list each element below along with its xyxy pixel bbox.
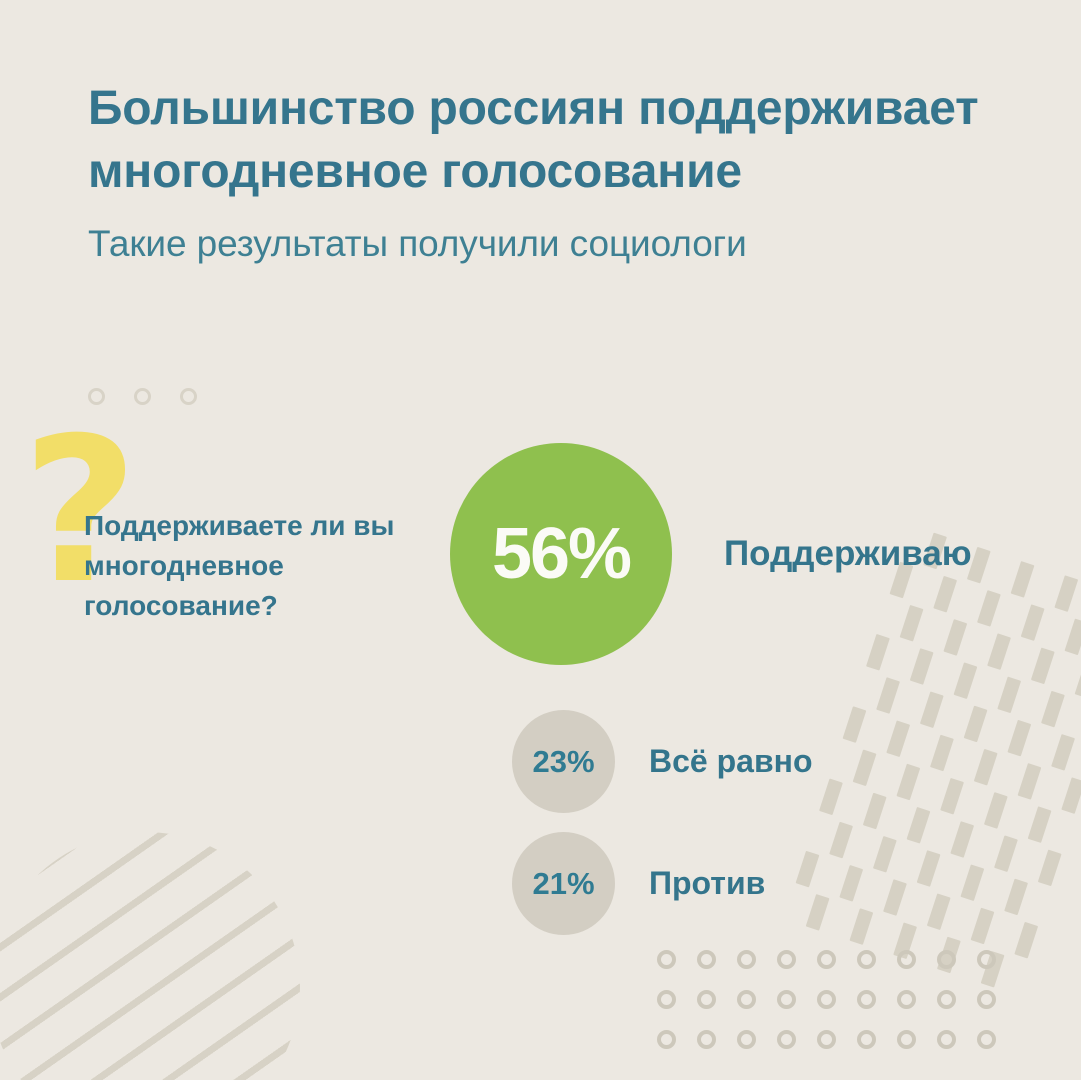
result-label-against: Против <box>649 865 765 902</box>
percentage-value-neutral: 23% <box>532 746 594 777</box>
result-row-support: 56% Поддерживаю <box>450 443 972 665</box>
infographic-poster: Большинство россиян поддерживает многодн… <box>0 0 1081 1080</box>
percentage-value-against: 21% <box>532 868 594 899</box>
result-label-support: Поддерживаю <box>724 534 972 574</box>
percentage-bubble-neutral: 23% <box>512 710 615 813</box>
percentage-bubble-support: 56% <box>450 443 672 665</box>
percentage-value-support: 56% <box>492 518 630 590</box>
percentage-bubble-against: 21% <box>512 832 615 935</box>
result-row-against: 21% Против <box>512 832 765 935</box>
result-row-neutral: 23% Всё равно <box>512 710 812 813</box>
results-chart: 56% Поддерживаю 23% Всё равно 21% Против <box>0 0 1081 1080</box>
result-label-neutral: Всё равно <box>649 743 812 780</box>
